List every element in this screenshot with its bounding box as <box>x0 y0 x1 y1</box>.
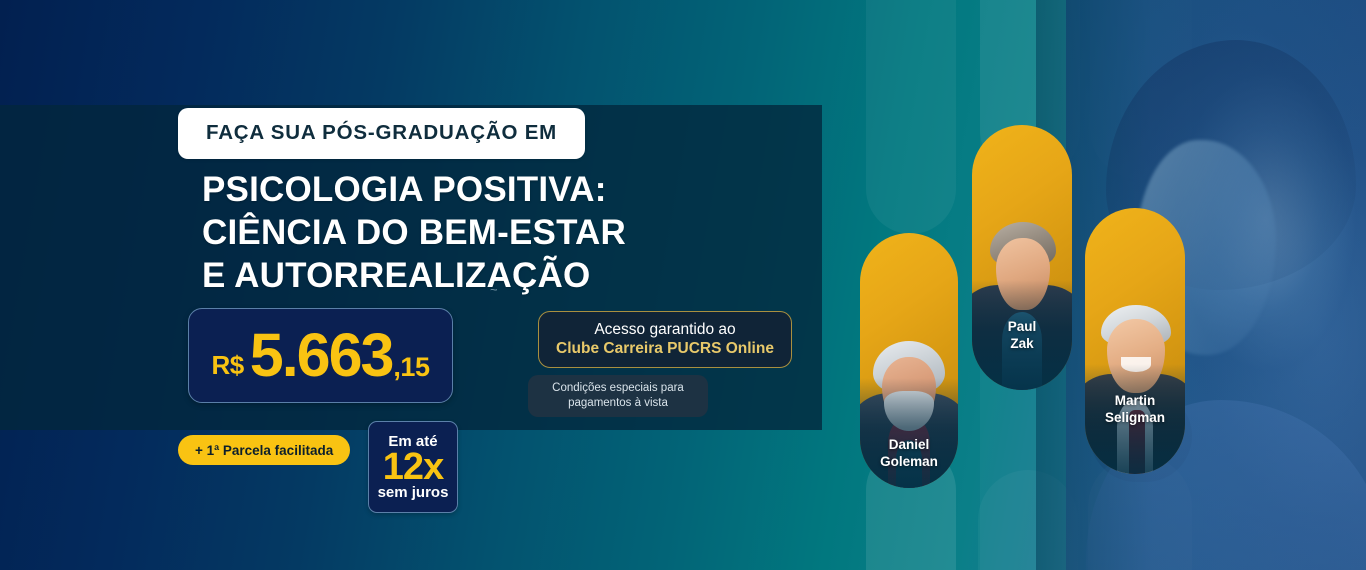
eyebrow-badge: FAÇA SUA PÓS-GRADUAÇÃO EM <box>178 108 585 159</box>
page-title: PSICOLOGIA POSITIVA: CIÊNCIA DO BEM-ESTA… <box>202 168 626 297</box>
speaker-card-martin-seligman: Martin Seligman <box>1085 208 1185 474</box>
first-installment-badge: + 1ª Parcela facilitada <box>178 435 350 465</box>
club-access-badge: Acesso garantido ao Clube Carreira PUCRS… <box>538 311 792 368</box>
speaker-name: Paul Zak <box>972 319 1072 352</box>
conditions-line-2: pagamentos à vista <box>568 396 668 411</box>
conditions-line-1: Condições especiais para <box>552 381 684 396</box>
price-amount: 5.663 <box>250 325 393 386</box>
speaker-first-name: Martin <box>1085 393 1185 409</box>
installments-count: 12x <box>383 448 443 488</box>
price-cents: ,15 <box>393 352 429 383</box>
headline-line-2: CIÊNCIA DO BEM-ESTAR <box>202 211 626 254</box>
speaker-last-name: Seligman <box>1085 410 1185 426</box>
conditions-badge: Condições especiais para pagamentos à vi… <box>528 375 708 417</box>
headline-line-3: E AUTORREALIZAÇÃO <box>202 254 626 297</box>
speaker-name: Martin Seligman <box>1085 393 1185 426</box>
promo-banner: FAÇA SUA PÓS-GRADUAÇÃO EM PSICOLOGIA POS… <box>0 0 1366 570</box>
headline-line-1: PSICOLOGIA POSITIVA: <box>202 168 626 211</box>
club-access-line-1: Acesso garantido ao <box>594 321 735 340</box>
price-box: R$ 5.663 ,15 <box>188 308 453 403</box>
speaker-first-name: Daniel <box>860 437 958 453</box>
speaker-card-daniel-goleman: Daniel Goleman <box>860 233 958 488</box>
club-access-line-2: Clube Carreira PUCRS Online <box>556 340 774 359</box>
speaker-name: Daniel Goleman <box>860 437 958 470</box>
installments-box: Em até 12x sem juros <box>368 421 458 513</box>
speaker-first-name: Paul <box>972 319 1072 335</box>
speaker-shade <box>860 378 958 488</box>
price-currency: R$ <box>212 350 244 381</box>
installments-suffix: sem juros <box>378 484 449 501</box>
speaker-card-paul-zak: Paul Zak <box>972 125 1072 390</box>
price-value: R$ 5.663 ,15 <box>212 325 430 386</box>
stray-mark: ~ <box>490 282 498 297</box>
speaker-last-name: Zak <box>972 336 1072 352</box>
speaker-last-name: Goleman <box>860 454 958 470</box>
